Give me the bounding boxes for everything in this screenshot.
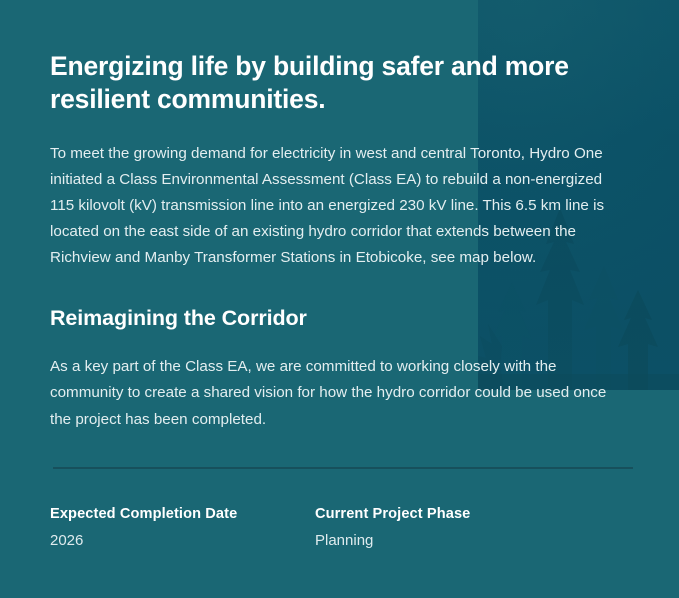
section-heading: Reimagining the Corridor (50, 271, 636, 332)
fact-label: Expected Completion Date (50, 506, 315, 524)
fact-current-project-phase: Current Project Phase Planning (315, 506, 580, 551)
project-facts: Expected Completion Date 2026 Current Pr… (50, 477, 636, 551)
page-title: Energizing life by building safer and mo… (50, 0, 610, 117)
intro-paragraph: To meet the growing demand for electrici… (50, 117, 630, 272)
content-column: Energizing life by building safer and mo… (50, 0, 636, 550)
fact-label: Current Project Phase (315, 506, 580, 524)
fact-expected-completion-date: Expected Completion Date 2026 (50, 506, 315, 551)
section-divider (53, 467, 633, 469)
project-overview-panel: Energizing life by building safer and mo… (0, 0, 679, 598)
fact-value: Planning (315, 523, 580, 550)
section-paragraph: As a key part of the Class EA, we are co… (50, 332, 620, 432)
fact-value: 2026 (50, 523, 315, 550)
